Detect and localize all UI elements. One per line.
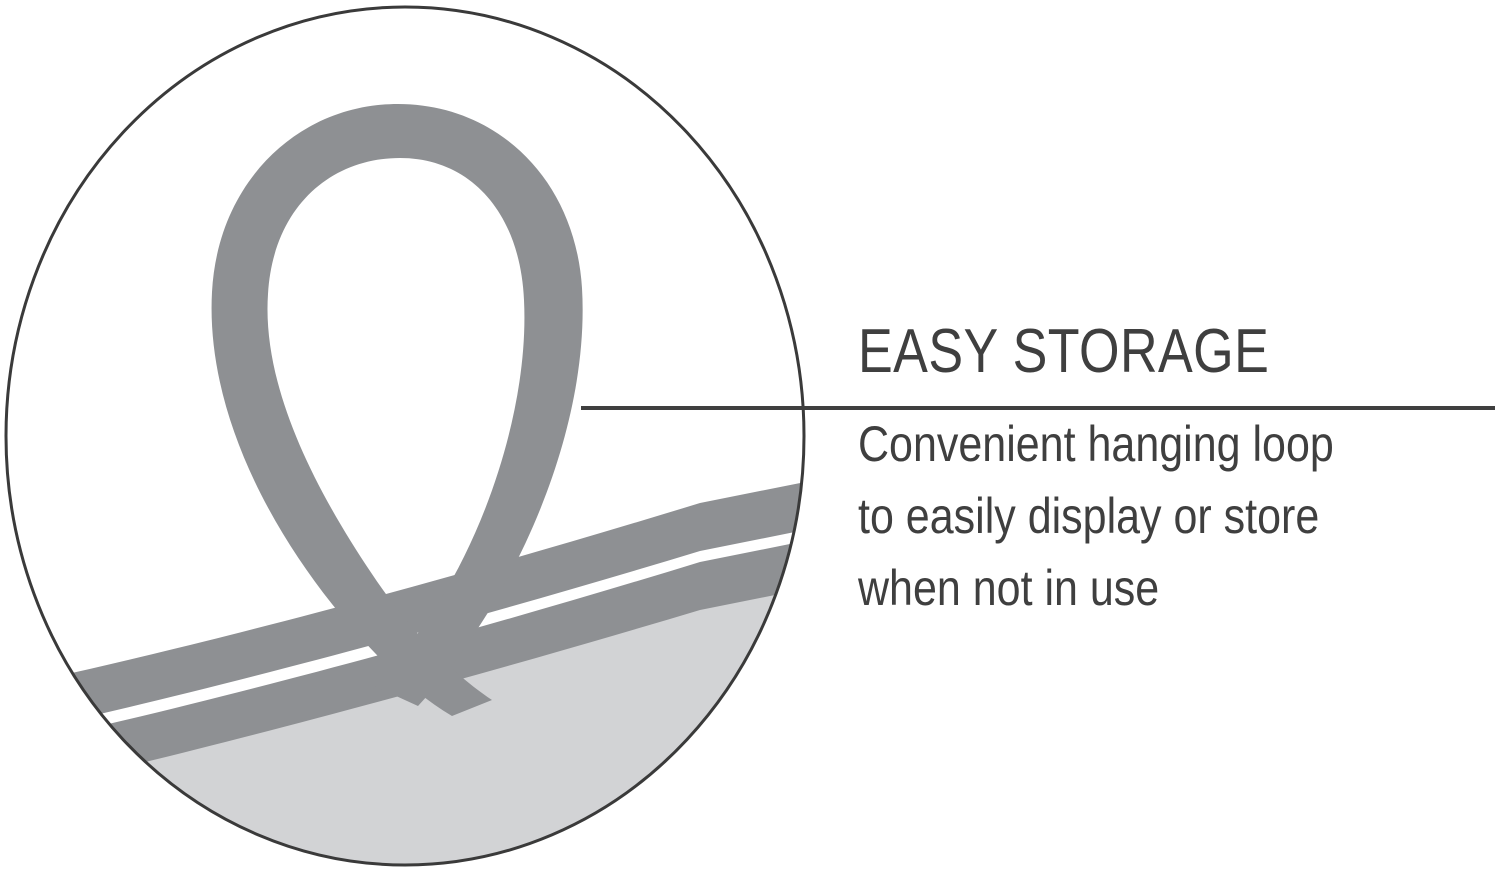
- callout-text-block: EASY STORAGE Convenient hanging loop to …: [858, 318, 1498, 624]
- description-line-3: when not in use: [858, 552, 1408, 624]
- description-line-2: to easily display or store: [858, 480, 1408, 552]
- page-title: EASY STORAGE: [858, 318, 1396, 386]
- description-line-1: Convenient hanging loop: [858, 408, 1408, 480]
- feature-callout-panel: EASY STORAGE Convenient hanging loop to …: [0, 0, 1500, 872]
- easy-storage-illustration: [0, 0, 830, 872]
- callout-description: Convenient hanging loop to easily displa…: [858, 386, 1408, 624]
